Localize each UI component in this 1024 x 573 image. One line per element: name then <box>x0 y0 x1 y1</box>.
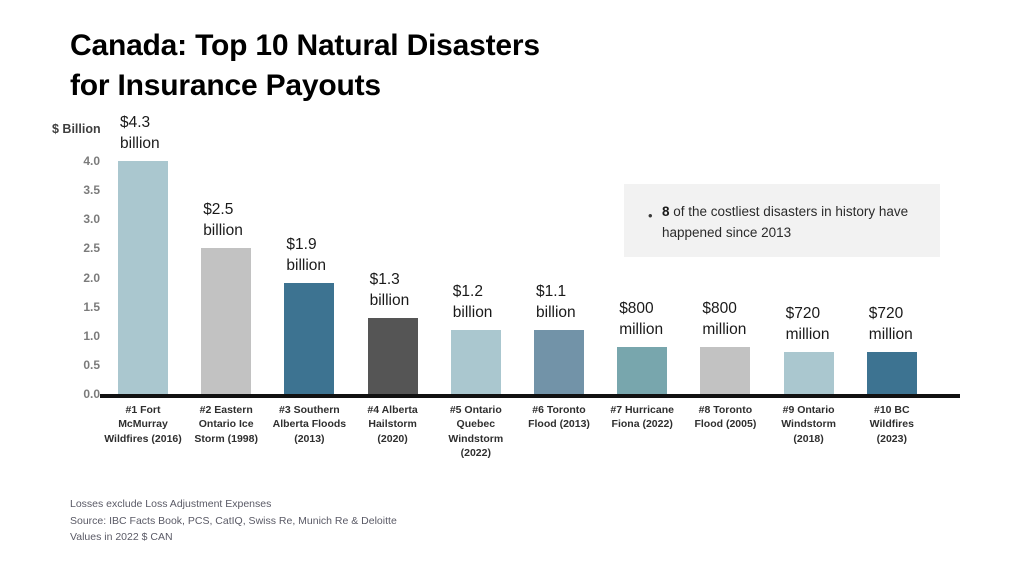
callout-box: • 8 of the costliest disasters in histor… <box>624 184 940 257</box>
footnote-source-text: Losses exclude Loss Adjustment Expenses … <box>70 496 397 546</box>
bar[interactable] <box>784 352 834 394</box>
bar-category-label: #8 Toronto Flood (2005) <box>681 403 769 432</box>
callout-lead-number: 8 <box>662 204 670 219</box>
bar[interactable] <box>867 352 917 394</box>
bar-group[interactable]: $1.9 billion#3 Southern Alberta Floods (… <box>284 0 334 573</box>
bars-layer: $4.3 billion#1 Fort McMurray Wildfires (… <box>0 0 1024 573</box>
bar[interactable] <box>201 248 251 394</box>
bar-category-label: #1 Fort McMurray Wildfires (2016) <box>99 403 187 446</box>
bar[interactable] <box>118 161 168 394</box>
bar[interactable] <box>534 330 584 394</box>
bar-category-label: #5 Ontario Quebec Windstorm (2022) <box>432 403 520 461</box>
bar-group[interactable]: $800 million#7 Hurricane Fiona (2022) <box>617 0 667 573</box>
bar[interactable] <box>368 318 418 394</box>
bar-category-label: #3 Southern Alberta Floods (2013) <box>265 403 353 446</box>
bar-group[interactable]: $720 million#9 Ontario Windstorm (2018) <box>784 0 834 573</box>
bar-group[interactable]: $2.5 billion#2 Eastern Ontario Ice Storm… <box>201 0 251 573</box>
callout-body-text: of the costliest disasters in history ha… <box>662 204 908 240</box>
bar[interactable] <box>700 347 750 394</box>
bar-category-label: #4 Alberta Hailstorm (2020) <box>349 403 437 446</box>
bar-group[interactable]: $800 million#8 Toronto Flood (2005) <box>700 0 750 573</box>
bar-group[interactable]: $1.3 billion#4 Alberta Hailstorm (2020) <box>368 0 418 573</box>
bar-group[interactable]: $1.2 billion#5 Ontario Quebec Windstorm … <box>451 0 501 573</box>
bar-group[interactable]: $1.1 billion#6 Toronto Flood (2013) <box>534 0 584 573</box>
bar-category-label: #7 Hurricane Fiona (2022) <box>598 403 686 432</box>
bullet-icon: • <box>648 209 653 222</box>
callout-text: 8 of the costliest disasters in history … <box>662 202 930 243</box>
bar-category-label: #2 Eastern Ontario Ice Storm (1998) <box>182 403 270 446</box>
bar[interactable] <box>284 283 334 394</box>
bar-group[interactable]: $720 million#10 BC Wildfires (2023) <box>867 0 917 573</box>
bar-category-label: #6 Toronto Flood (2013) <box>515 403 603 432</box>
bar-category-label: #10 BC Wildfires (2023) <box>848 403 936 446</box>
bar[interactable] <box>451 330 501 394</box>
bar-group[interactable]: $4.3 billion#1 Fort McMurray Wildfires (… <box>118 0 168 573</box>
bar-chart: $ Billion 4.03.53.02.52.01.51.00.50.0 $4… <box>0 0 1024 573</box>
bar[interactable] <box>617 347 667 394</box>
bar-value-label: $720 million <box>869 304 989 346</box>
bar-category-label: #9 Ontario Windstorm (2018) <box>765 403 853 446</box>
